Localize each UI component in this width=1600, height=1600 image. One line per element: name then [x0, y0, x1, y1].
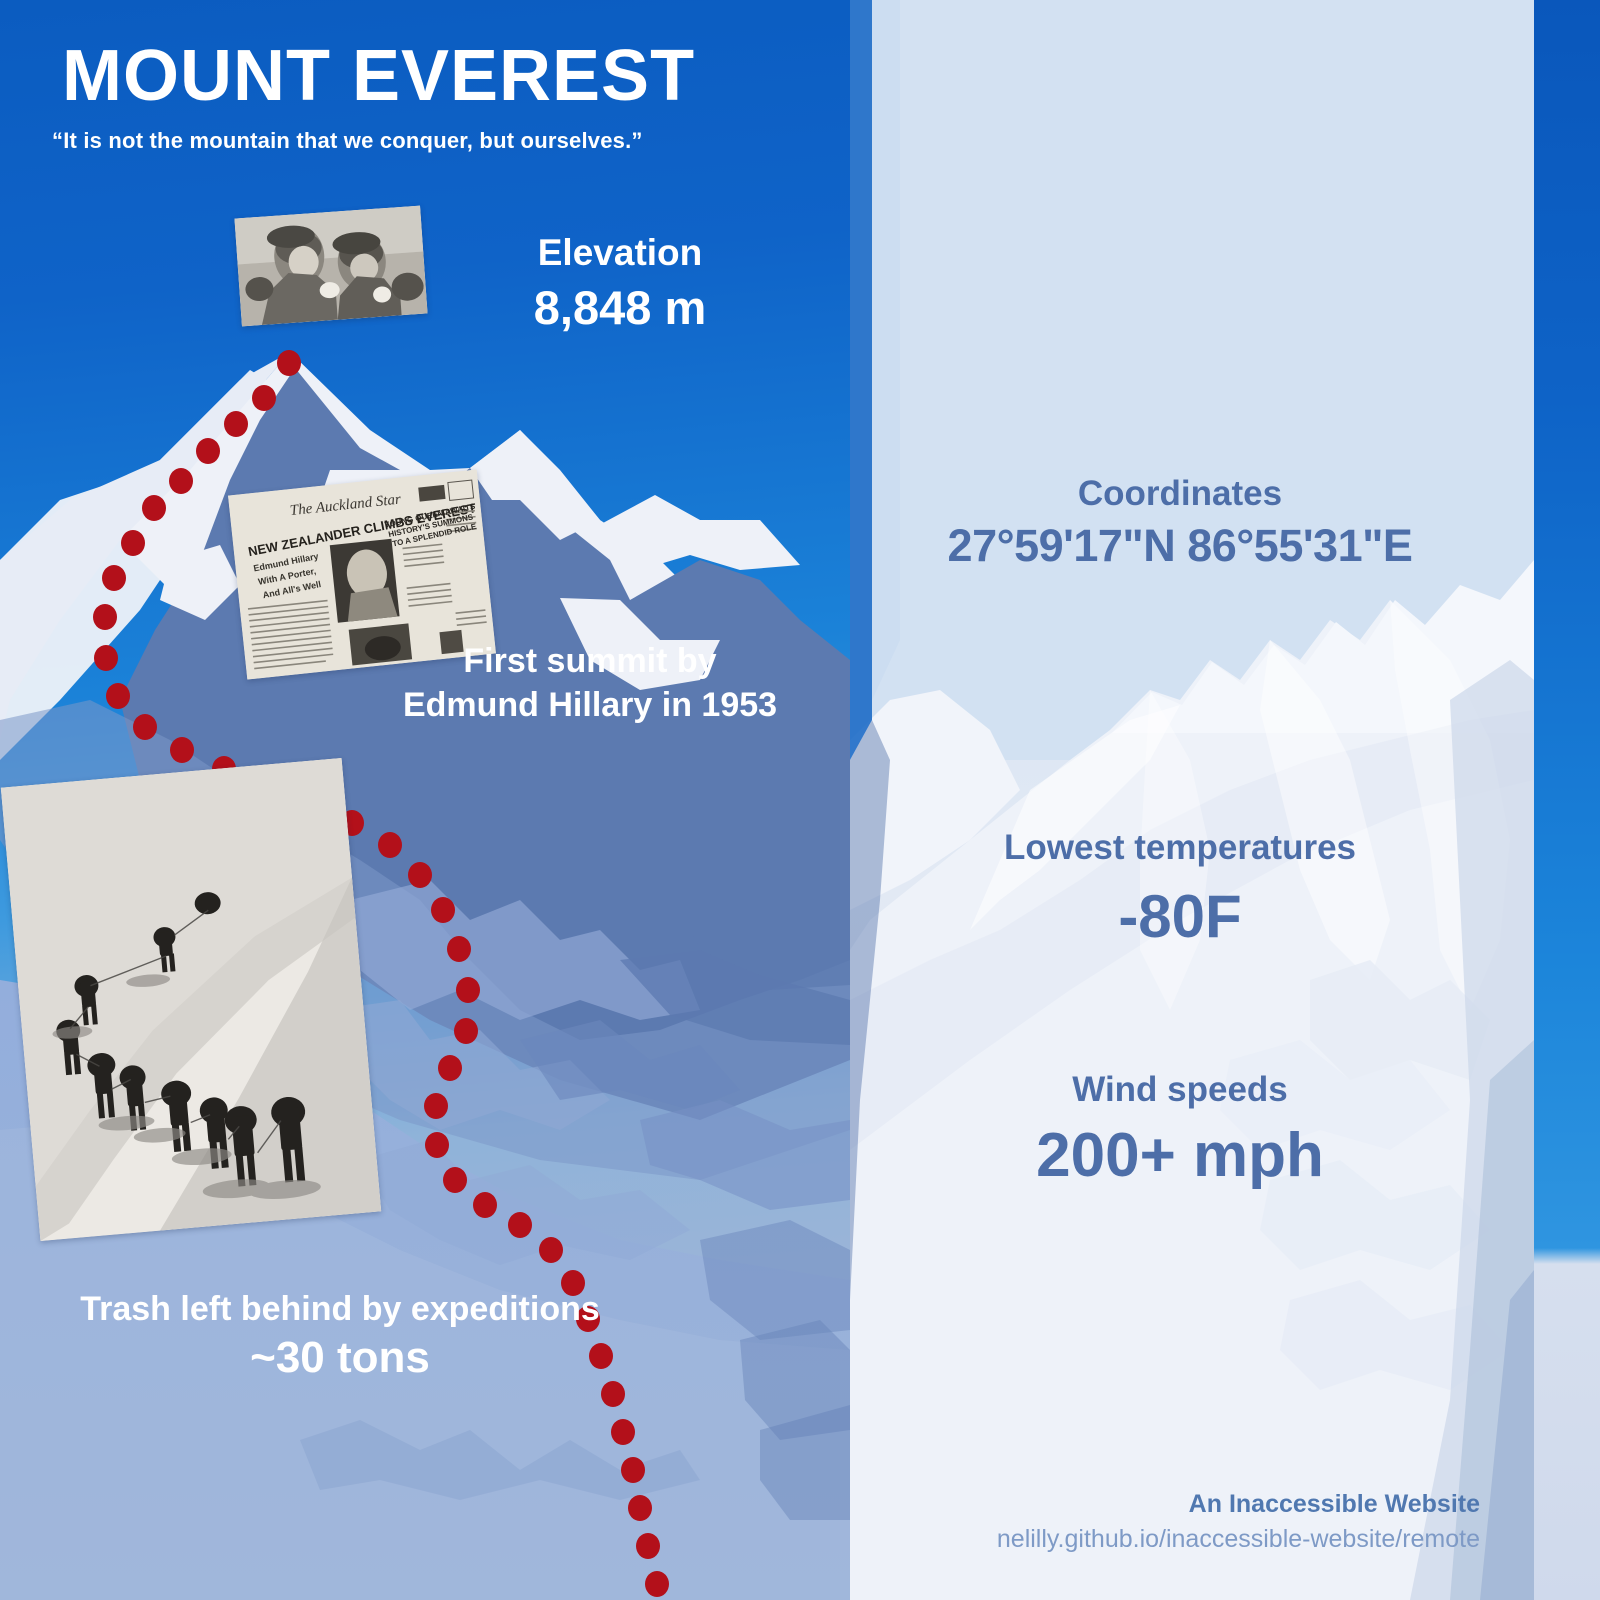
stat-elevation-label: Elevation [430, 232, 810, 275]
stat-first-summit-line2: Edmund Hillary in 1953 [350, 684, 830, 728]
footer-site-name: An Inaccessible Website [997, 1490, 1480, 1519]
stat-wind-speed-label: Wind speeds [930, 1070, 1430, 1110]
stat-elevation: Elevation 8,848 m [430, 232, 810, 335]
stat-lowest-temperature: Lowest temperatures -80F [930, 828, 1430, 951]
stat-wind-speed-value: 200+ mph [930, 1120, 1430, 1191]
infographic-canvas: The Auckland Star NEW ZEALANDER CLIMBS E… [0, 0, 1600, 1600]
stat-trash-label: Trash left behind by expeditions [10, 1290, 670, 1329]
page-title: MOUNT EVEREST [62, 40, 822, 113]
stat-elevation-value: 8,848 m [430, 281, 810, 335]
right-panel [850, 0, 1534, 1600]
stat-coordinates-label: Coordinates [880, 474, 1480, 514]
stat-first-summit: First summit by Edmund Hillary in 1953 [350, 640, 830, 727]
stat-coordinates: Coordinates 27°59'17"N 86°55'31"E [880, 474, 1480, 572]
stat-trash: Trash left behind by expeditions ~30 ton… [10, 1290, 670, 1384]
photo-climbing-expedition [1, 758, 381, 1241]
stat-coordinates-value: 27°59'17"N 86°55'31"E [880, 520, 1480, 572]
photo-hillary-and-tenzing [234, 206, 427, 327]
stat-lowest-temperature-value: -80F [930, 882, 1430, 951]
right-mountain-illustration [850, 0, 1534, 1600]
footer: An Inaccessible Website nelilly.github.i… [997, 1490, 1480, 1554]
stat-wind-speed: Wind speeds 200+ mph [930, 1070, 1430, 1192]
right-edge-accent-strip [1534, 0, 1600, 1600]
stat-trash-value: ~30 tons [10, 1333, 670, 1384]
footer-url[interactable]: nelilly.github.io/inaccessible-website/r… [997, 1525, 1480, 1554]
subtitle-quote: “It is not the mountain that we conquer,… [52, 128, 832, 154]
stat-first-summit-line1: First summit by [350, 640, 830, 684]
stat-lowest-temperature-label: Lowest temperatures [930, 828, 1430, 868]
